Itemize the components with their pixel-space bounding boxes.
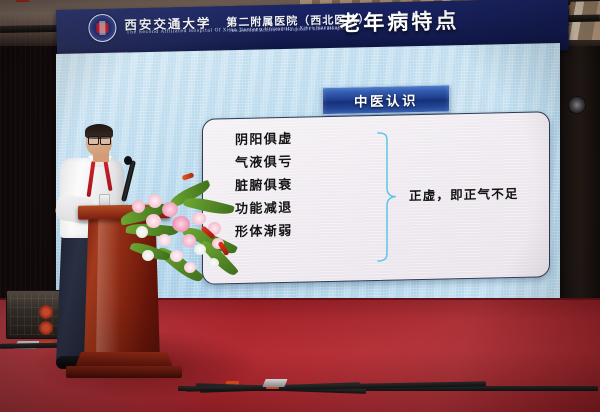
flower — [136, 226, 148, 238]
flower — [182, 234, 196, 247]
flower — [142, 250, 154, 261]
eyeglasses-icon — [88, 136, 111, 143]
microphone-head-icon — [124, 156, 132, 165]
flower — [158, 234, 171, 246]
slide-section-label: 中医认识 — [354, 89, 418, 110]
list-item: 脏腑俱衰 — [235, 178, 293, 194]
flower — [146, 214, 161, 228]
list-item: 气液俱亏 — [235, 155, 293, 171]
flower — [170, 250, 183, 262]
cable-ramp-plate — [262, 379, 287, 387]
list-item: 功能减退 — [235, 201, 293, 217]
leaf — [183, 194, 234, 218]
flower — [184, 262, 196, 273]
curly-brace-icon — [376, 130, 398, 264]
case-speaker-icon — [39, 305, 53, 319]
equipment-road-case — [6, 290, 62, 339]
floral-arrangement — [124, 172, 242, 300]
flower — [148, 194, 162, 208]
podium-plinth — [66, 366, 182, 378]
podium-highlight — [96, 214, 120, 360]
case-handle-icon — [16, 0, 29, 2]
event-title: 老年病特点 — [339, 5, 460, 38]
red-bloom — [182, 172, 195, 180]
case-speaker-icon — [39, 321, 53, 335]
flower — [192, 212, 206, 225]
stage-curtain-left — [0, 16, 57, 316]
flower — [194, 244, 206, 255]
flower — [172, 216, 190, 232]
conference-stage-photo: 西安交通大学 The Second Affiliated Hospital Of… — [0, 0, 600, 412]
slide-content-panel: 阴阳俱虚 气液俱亏 脏腑俱衰 功能减退 形体渐弱 正虚，即正气不足 — [202, 111, 550, 285]
flower — [132, 200, 145, 213]
slide-section-chip: 中医认识 — [322, 84, 450, 115]
slide-term-list: 阴阳俱虚 气液俱亏 脏腑俱衰 功能减退 形体渐弱 — [235, 132, 293, 240]
ceiling-fan-icon — [568, 96, 586, 114]
list-item: 形体渐弱 — [235, 224, 293, 240]
slide-conclusion-text: 正虚，即正气不足 — [409, 183, 519, 204]
list-item: 阴阳俱虚 — [235, 132, 293, 148]
flower — [208, 258, 219, 268]
flower — [162, 202, 178, 217]
